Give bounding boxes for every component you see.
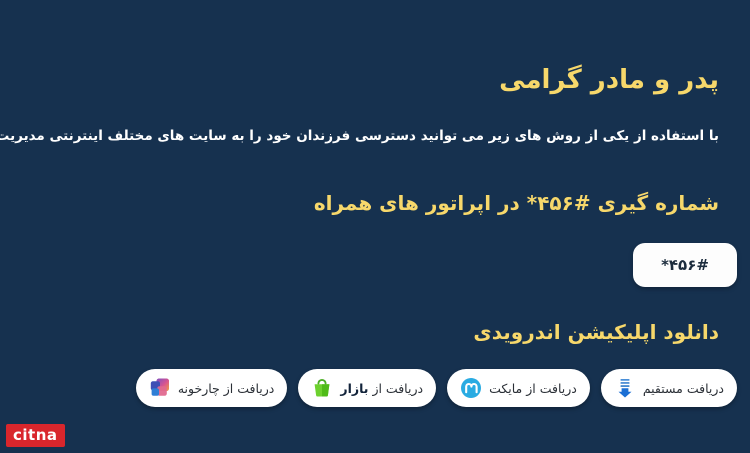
citna-watermark: citna <box>7 424 66 447</box>
citna-watermark-text: citna <box>14 428 59 443</box>
ussd-code-pill[interactable]: *۴۵۶# <box>634 243 738 287</box>
bazaar-label-brand: بازار <box>341 381 369 396</box>
charkhoone-download-button[interactable]: دریافت از چارخونه <box>137 369 289 407</box>
myket-icon <box>461 377 483 399</box>
charkhoone-download-label: دریافت از چارخونه <box>179 381 276 396</box>
direct-download-label: دریافت مستقیم <box>644 381 725 396</box>
store-buttons-row: دریافت مستقیم دریافت از مایکت <box>137 369 738 407</box>
myket-download-label: دریافت از مایکت <box>490 381 578 396</box>
ussd-code-text: *۴۵۶# <box>662 256 710 274</box>
parental-control-banner: پدر و مادر گرامی با استفاده از یکی از رو… <box>0 0 750 453</box>
download-arrow-icon <box>615 377 637 399</box>
direct-download-button[interactable]: دریافت مستقیم <box>602 369 738 407</box>
bazaar-label-prefix: دریافت از <box>369 381 424 396</box>
myket-download-button[interactable]: دریافت از مایکت <box>448 369 591 407</box>
subtitle-text: با استفاده از یکی از روش های زیر می توان… <box>30 126 720 146</box>
charkhoone-squares-icon <box>150 377 172 399</box>
app-section-heading: دانلود اپلیکیشن اندرویدی <box>474 320 720 344</box>
bazaar-bag-icon <box>312 377 334 399</box>
bazaar-download-label: دریافت از بازار <box>341 381 424 396</box>
page-title: پدر و مادر گرامی <box>500 64 720 97</box>
dial-section-heading: شماره گیری #۴۵۶* در اپراتور های همراه <box>315 190 720 216</box>
bazaar-download-button[interactable]: دریافت از بازار <box>299 369 437 407</box>
